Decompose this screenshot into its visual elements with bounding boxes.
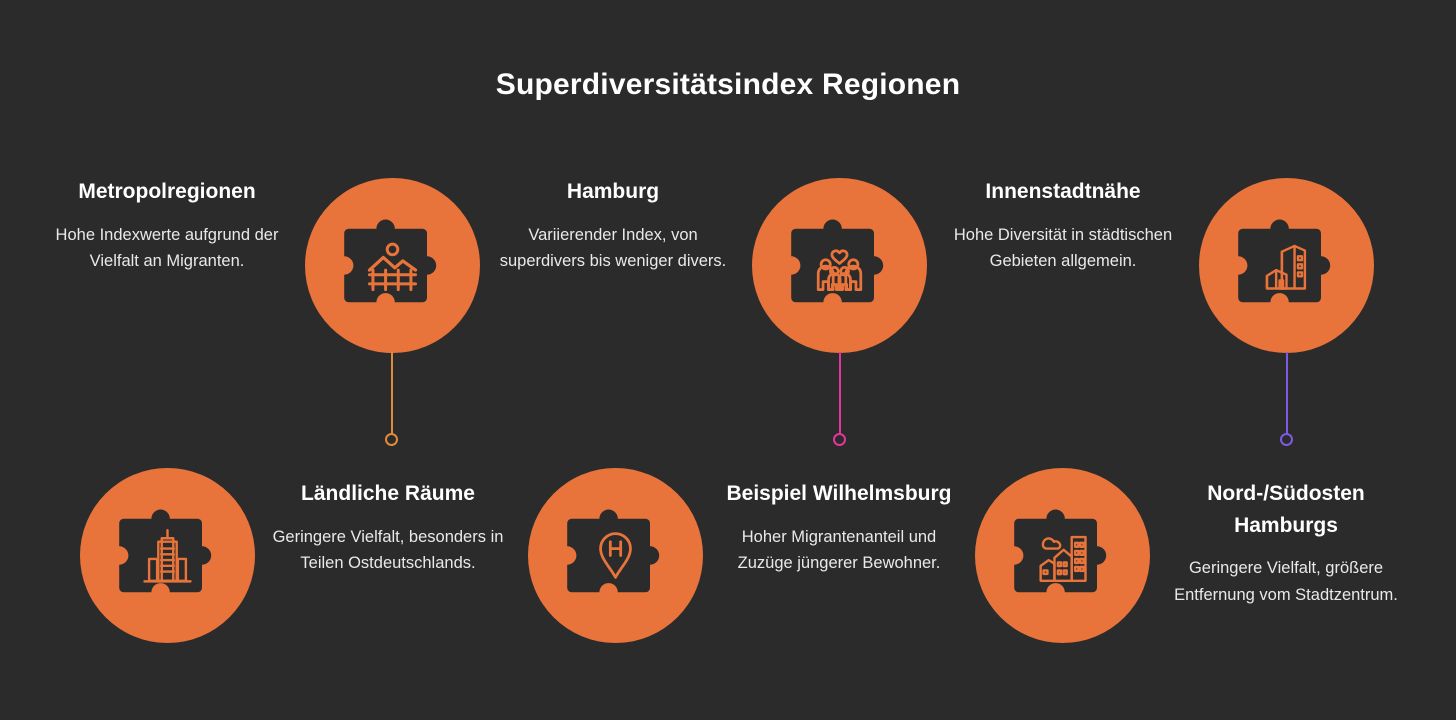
connector-3-stem (1286, 352, 1288, 446)
icon-circle-laendliche-raeume[interactable] (80, 468, 255, 643)
body-beispiel-wilhelmsburg: Hoher Migrantenanteil und Zuzüge jüngere… (714, 524, 964, 577)
text-block-innenstadtnaehe: Innenstadtnähe Hohe Diversität in städti… (938, 176, 1188, 275)
heading-beispiel-wilhelmsburg: Beispiel Wilhelmsburg (714, 478, 964, 510)
text-block-nord-suedosten-hamburgs: Nord-/Südosten Hamburgs Geringere Vielfa… (1161, 478, 1411, 608)
text-block-laendliche-raeume: Ländliche Räume Geringere Vielfalt, beso… (263, 478, 513, 577)
puzzle-skyscraper-icon (110, 498, 225, 613)
icon-circle-metropolregionen[interactable] (305, 178, 480, 353)
icon-circle-innenstadtnaehe[interactable] (1199, 178, 1374, 353)
page-title: Superdiversitätsindex Regionen (0, 68, 1456, 102)
body-innenstadtnaehe: Hohe Diversität in städtischen Gebieten … (938, 222, 1188, 275)
icon-circle-nord-suedosten-hamburgs[interactable] (975, 468, 1150, 643)
text-block-hamburg: Hamburg Variierender Index, von superdiv… (488, 176, 738, 275)
puzzle-map-pin-icon (558, 498, 673, 613)
heading-hamburg: Hamburg (488, 176, 738, 208)
connector-1 (385, 352, 399, 446)
body-laendliche-raeume: Geringere Vielfalt, besonders in Teilen … (263, 524, 513, 577)
heading-innenstadtnaehe: Innenstadtnähe (938, 176, 1188, 208)
text-block-metropolregionen: Metropolregionen Hohe Indexwerte aufgrun… (42, 176, 292, 275)
heading-metropolregionen: Metropolregionen (42, 176, 292, 208)
icon-circle-hamburg[interactable] (752, 178, 927, 353)
puzzle-house-building-icon (1229, 208, 1344, 323)
heading-laendliche-raeume: Ländliche Räume (263, 478, 513, 510)
body-nord-suedosten-hamburgs: Geringere Vielfalt, größere Entfernung v… (1161, 555, 1411, 608)
connector-2-endpoint (833, 433, 846, 446)
body-metropolregionen: Hohe Indexwerte aufgrund der Vielfalt an… (42, 222, 292, 275)
connector-1-endpoint (385, 433, 398, 446)
body-hamburg: Variierender Index, von superdivers bis … (488, 222, 738, 275)
puzzle-landscape-icon (335, 208, 450, 323)
connector-2 (833, 352, 847, 446)
connector-1-stem (391, 352, 393, 446)
connector-2-stem (839, 352, 841, 446)
text-block-beispiel-wilhelmsburg: Beispiel Wilhelmsburg Hoher Migrantenant… (714, 478, 964, 577)
puzzle-suburb-cloud-icon (1005, 498, 1120, 613)
connector-3 (1280, 352, 1294, 446)
connector-3-endpoint (1280, 433, 1293, 446)
infographic-canvas: Superdiversitätsindex Regionen Metropolr… (0, 0, 1456, 720)
heading-nord-suedosten-hamburgs: Nord-/Südosten Hamburgs (1161, 478, 1411, 541)
icon-circle-beispiel-wilhelmsburg[interactable] (528, 468, 703, 643)
puzzle-family-icon (782, 208, 897, 323)
